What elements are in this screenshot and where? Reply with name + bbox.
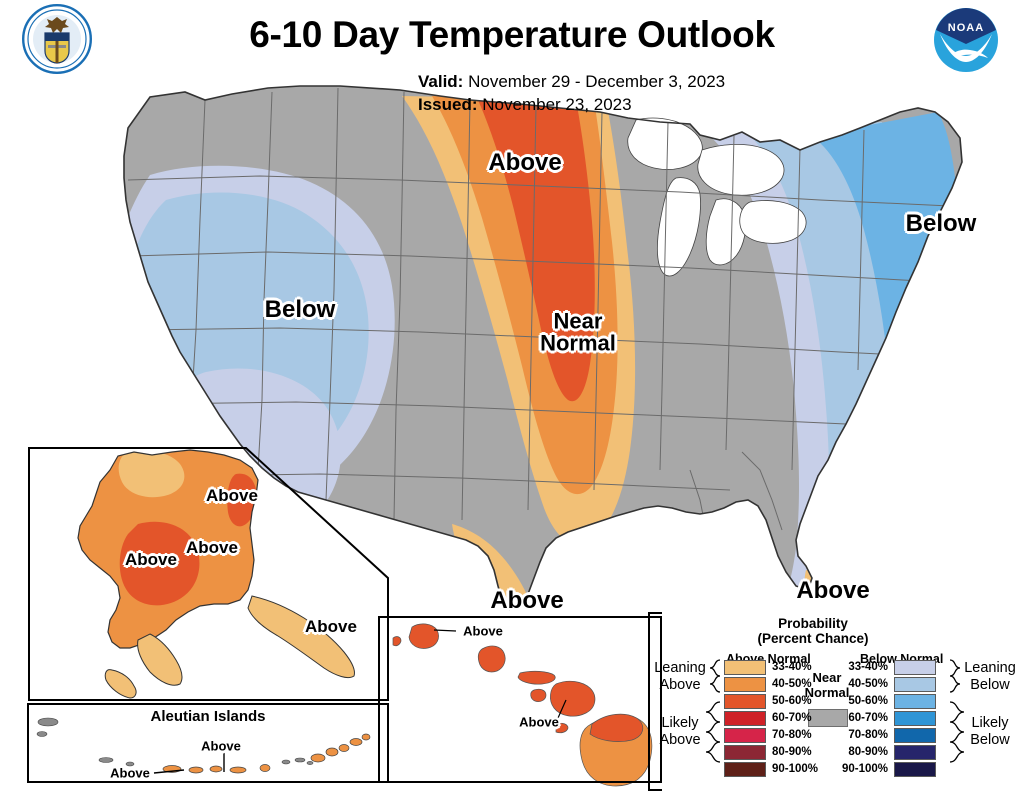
legend-range-below-50-60: 50-60% — [834, 694, 888, 709]
alaska-peninsula-above-33-40 — [138, 634, 182, 685]
legend-swatch-below-50-60 — [894, 694, 936, 709]
map-label-conus-above-4: Above — [490, 587, 563, 615]
valid-row: Valid: November 29 - December 3, 2023 — [418, 70, 725, 93]
legend-range-above-40-50: 40-50% — [772, 677, 812, 692]
legend-range-above-60-70: 60-70% — [772, 711, 812, 726]
map-label-aleutian-above-0: Above — [201, 739, 241, 754]
legend-leaning-below-label: LeaningBelow — [952, 660, 1024, 694]
map-label-hawaii-above-0: Above — [463, 624, 503, 639]
legend-swatch-above-33-40 — [724, 660, 766, 675]
aleutian-inset-title: Aleutian Islands — [27, 708, 389, 725]
header: 6-10 Day Temperature Outlook Valid: Nove… — [0, 0, 1024, 118]
map-label-conus-below-3: Below — [906, 210, 977, 238]
legend-swatch-below-33-40 — [894, 660, 936, 675]
legend-range-above-80-90: 80-90% — [772, 745, 812, 760]
legend-range-above-90-100: 90-100% — [772, 762, 818, 777]
hawaii-inset-frame — [378, 616, 662, 783]
map-label-conus-above-0: Above — [488, 149, 561, 177]
legend-likely-above-label: LikelyAbove — [644, 715, 716, 749]
svg-text:NOAA: NOAA — [948, 22, 984, 34]
legend-swatch-below-40-50 — [894, 677, 936, 692]
page-title: 6-10 Day Temperature Outlook — [0, 14, 1024, 56]
legend-likely-below-label: LikelyBelow — [952, 715, 1024, 749]
legend-swatch-above-70-80 — [724, 728, 766, 743]
issued-label: Issued: — [418, 95, 478, 114]
legend-swatch-above-80-90 — [724, 745, 766, 760]
legend-range-below-33-40: 33-40% — [834, 660, 888, 675]
map-label-conus-below-1: Below — [265, 296, 336, 324]
legend-swatch-above-50-60 — [724, 694, 766, 709]
department-of-commerce-seal — [21, 3, 93, 75]
probability-legend: Probability(Percent Chance) Above Normal… — [648, 612, 1024, 791]
legend-swatch-above-60-70 — [724, 711, 766, 726]
legend-swatch-below-80-90 — [894, 745, 936, 760]
map-label-aleutian-above-1: Above — [110, 766, 150, 781]
map-label-alaska-above-3: Above — [305, 617, 357, 637]
validity-block: Valid: November 29 - December 3, 2023 Is… — [418, 70, 725, 116]
map-label-conus-near-normal-2: NearNormal — [540, 311, 616, 356]
issued-value: November 23, 2023 — [482, 95, 631, 114]
legend-swatch-below-60-70 — [894, 711, 936, 726]
legend-range-above-70-80: 70-80% — [772, 728, 812, 743]
map-label-conus-above-5: Above — [796, 577, 869, 605]
legend-swatch-above-40-50 — [724, 677, 766, 692]
legend-swatch-below-90-100 — [894, 762, 936, 777]
legend-title: Probability(Percent Chance) — [648, 616, 978, 646]
legend-range-below-60-70: 60-70% — [834, 711, 888, 726]
valid-label: Valid: — [418, 72, 463, 91]
legend-range-below-90-100: 90-100% — [834, 762, 888, 777]
legend-swatch-above-90-100 — [724, 762, 766, 777]
legend-leaning-above-label: LeaningAbove — [644, 660, 716, 694]
legend-range-above-50-60: 50-60% — [772, 694, 812, 709]
legend-swatch-below-70-80 — [894, 728, 936, 743]
alaska-peninsula-tip — [105, 670, 136, 698]
legend-range-above-33-40: 33-40% — [772, 660, 812, 675]
noaa-logo: NOAA — [930, 4, 1002, 76]
legend-range-below-40-50: 40-50% — [834, 677, 888, 692]
legend-range-below-80-90: 80-90% — [834, 745, 888, 760]
map-label-hawaii-above-1: Above — [519, 715, 559, 730]
legend-range-below-70-80: 70-80% — [834, 728, 888, 743]
legend-left-rule-top — [648, 612, 662, 614]
map-label-alaska-above-2: Above — [125, 550, 177, 570]
valid-value: November 29 - December 3, 2023 — [468, 72, 725, 91]
map-label-alaska-above-0: Above — [206, 486, 258, 506]
map-label-alaska-above-1: Above — [186, 538, 238, 558]
issued-row: Issued: November 23, 2023 — [418, 93, 725, 116]
